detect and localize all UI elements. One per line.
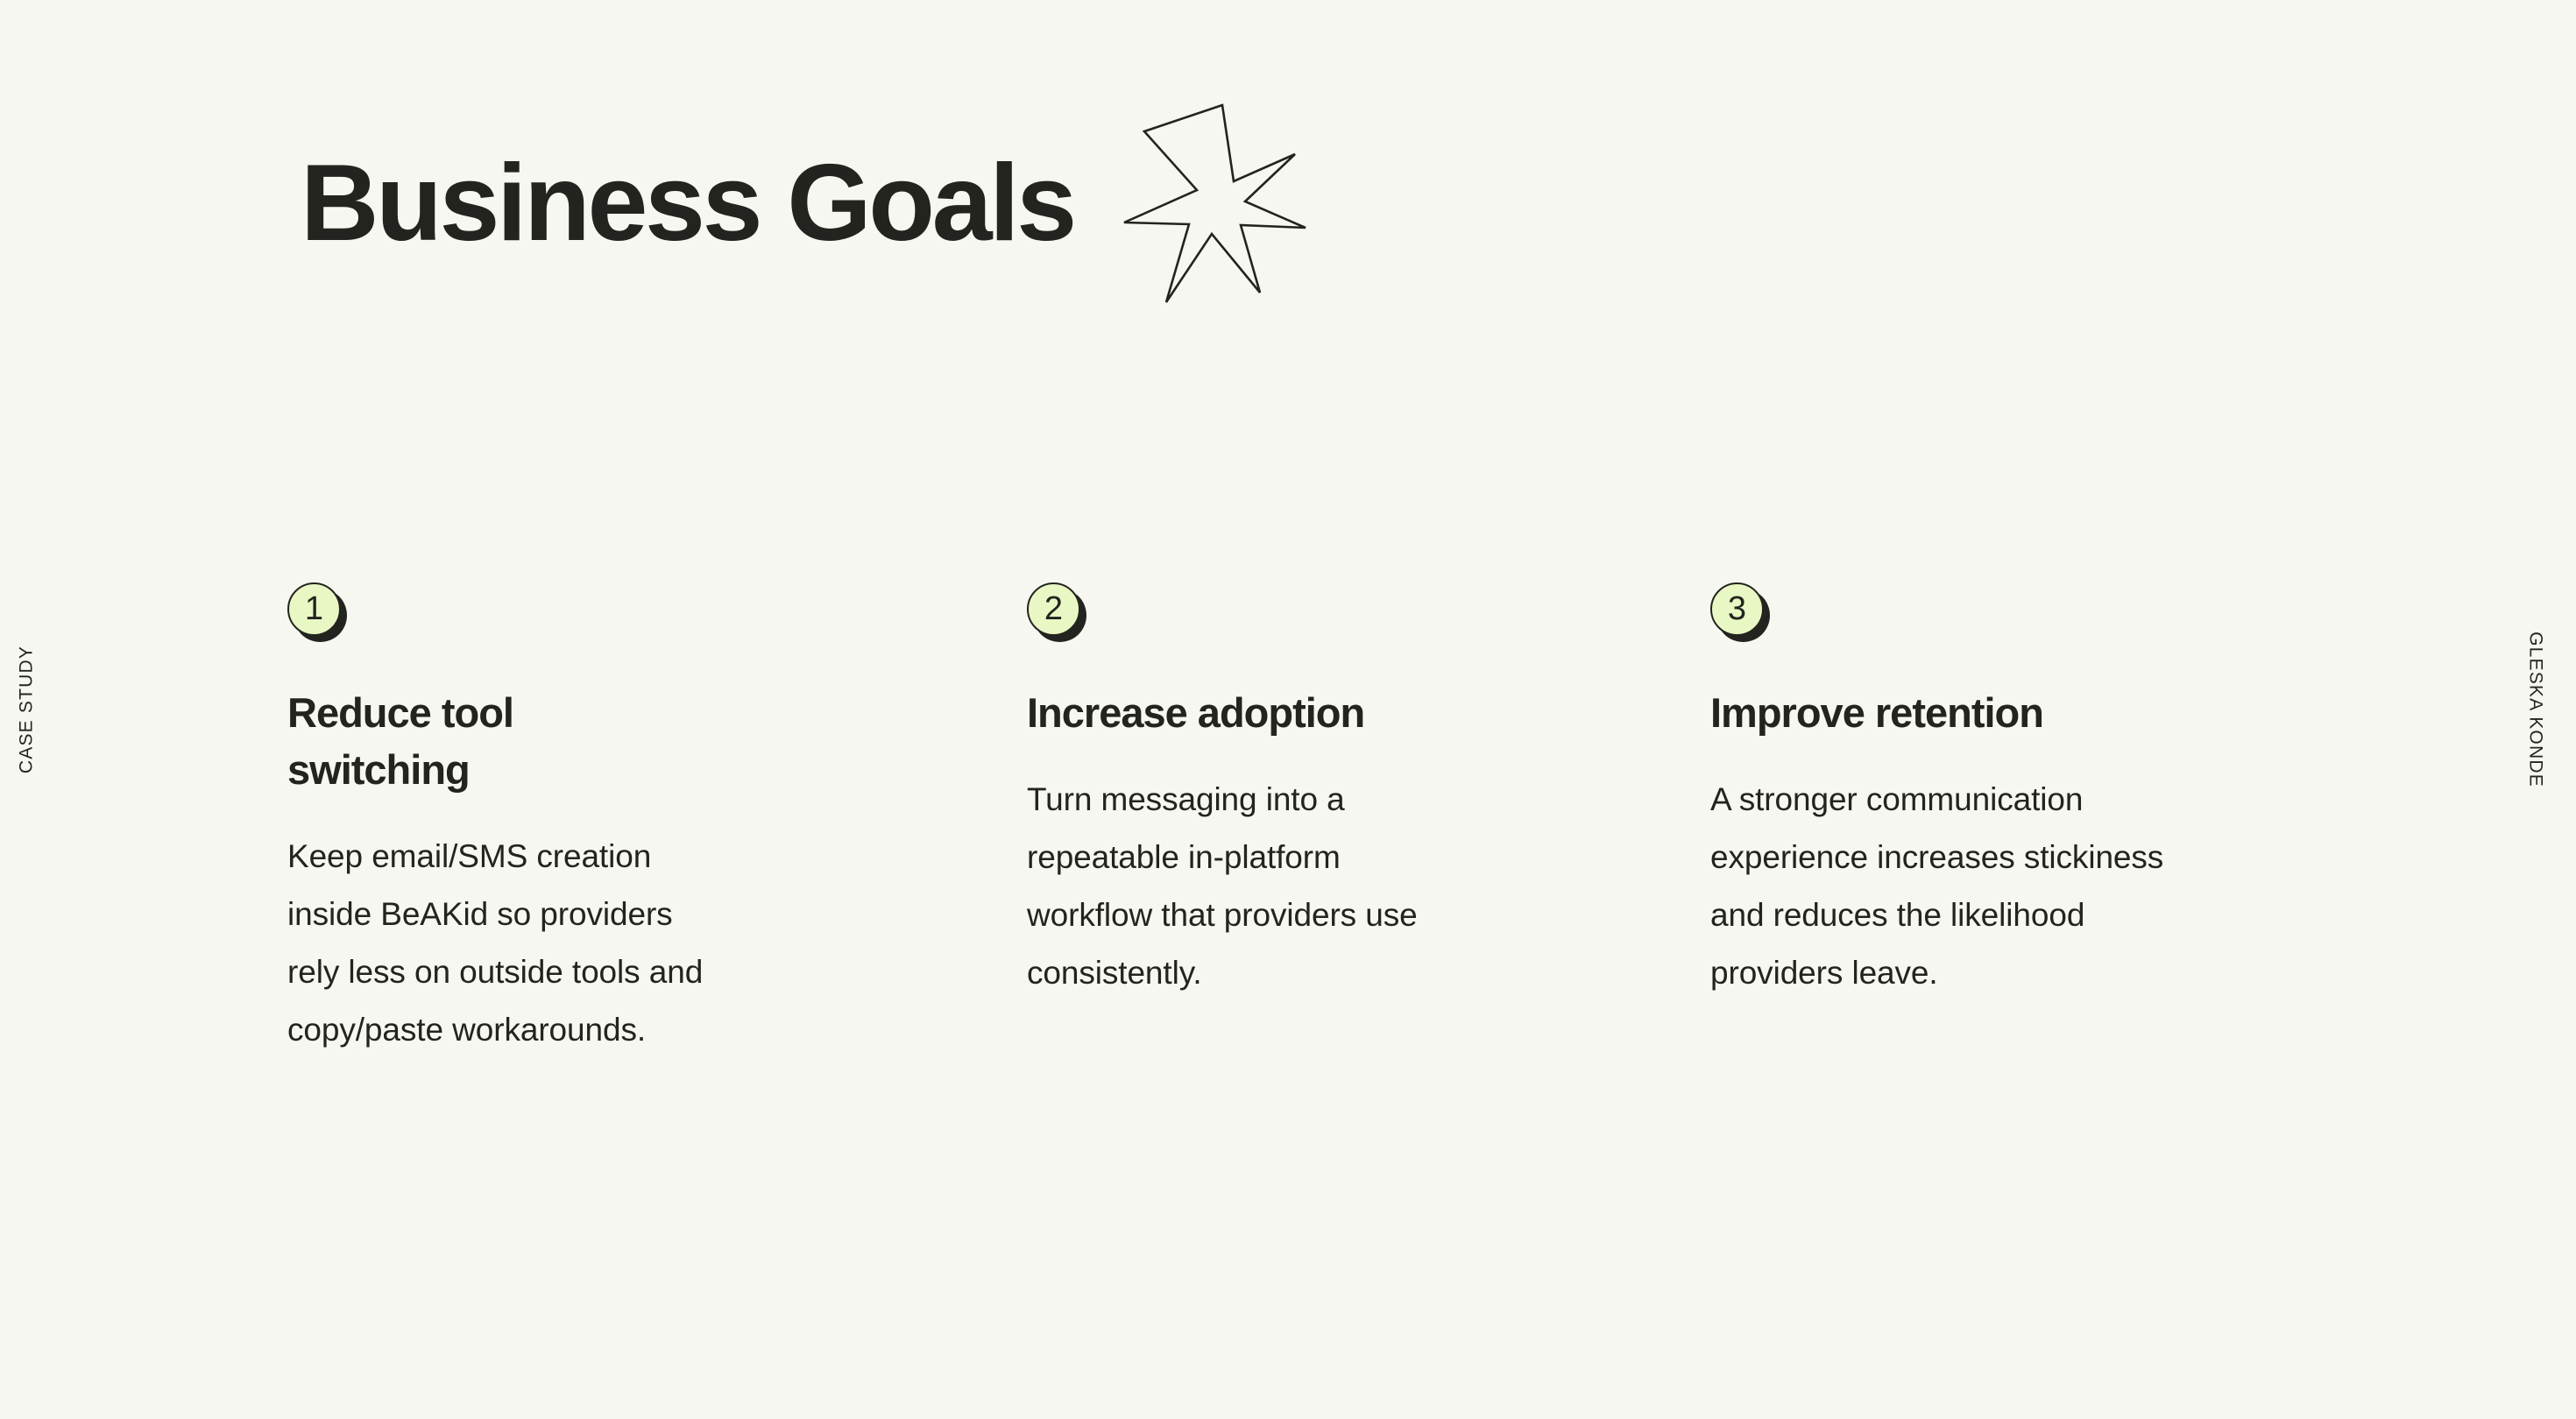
header: Business Goals xyxy=(301,95,1315,314)
goal-body-3: A stronger communication experience incr… xyxy=(1710,771,2183,1002)
goal-body-2: Turn messaging into a repeatable in-plat… xyxy=(1027,771,1465,1002)
goal-number-badge-1: 1 xyxy=(287,582,347,642)
badge-circle: 3 xyxy=(1710,582,1764,636)
brand-side-label: GLESKA KONDE xyxy=(2527,632,2545,787)
goal-heading-2: Increase adoption xyxy=(1027,684,1430,741)
goal-number-badge-3: 3 xyxy=(1710,582,1770,642)
goal-card-1: 1 Reduce tool switching Keep email/SMS c… xyxy=(287,582,1027,1059)
badge-circle: 1 xyxy=(287,582,341,636)
badge-number-label: 1 xyxy=(305,592,323,625)
case-study-side-label: CASE STUDY xyxy=(18,646,36,773)
badge-number-label: 3 xyxy=(1728,592,1746,625)
goal-body-1: Keep email/SMS creation inside BeAKid so… xyxy=(287,828,730,1059)
goal-card-3: 3 Improve retention A stronger communica… xyxy=(1710,582,2303,1002)
badge-circle: 2 xyxy=(1027,582,1080,636)
goal-heading-1: Reduce tool switching xyxy=(287,684,690,798)
seven-point-star-icon xyxy=(1114,95,1315,314)
goal-card-2: 2 Increase adoption Turn messaging into … xyxy=(1027,582,1710,1002)
slide-canvas: CASE STUDY GLESKA KONDE Business Goals 1… xyxy=(0,0,2576,1419)
goal-heading-3: Improve retention xyxy=(1710,684,2113,741)
goal-number-badge-2: 2 xyxy=(1027,582,1086,642)
goals-row: 1 Reduce tool switching Keep email/SMS c… xyxy=(287,582,2303,1059)
badge-number-label: 2 xyxy=(1044,592,1063,625)
page-title: Business Goals xyxy=(301,95,1074,258)
